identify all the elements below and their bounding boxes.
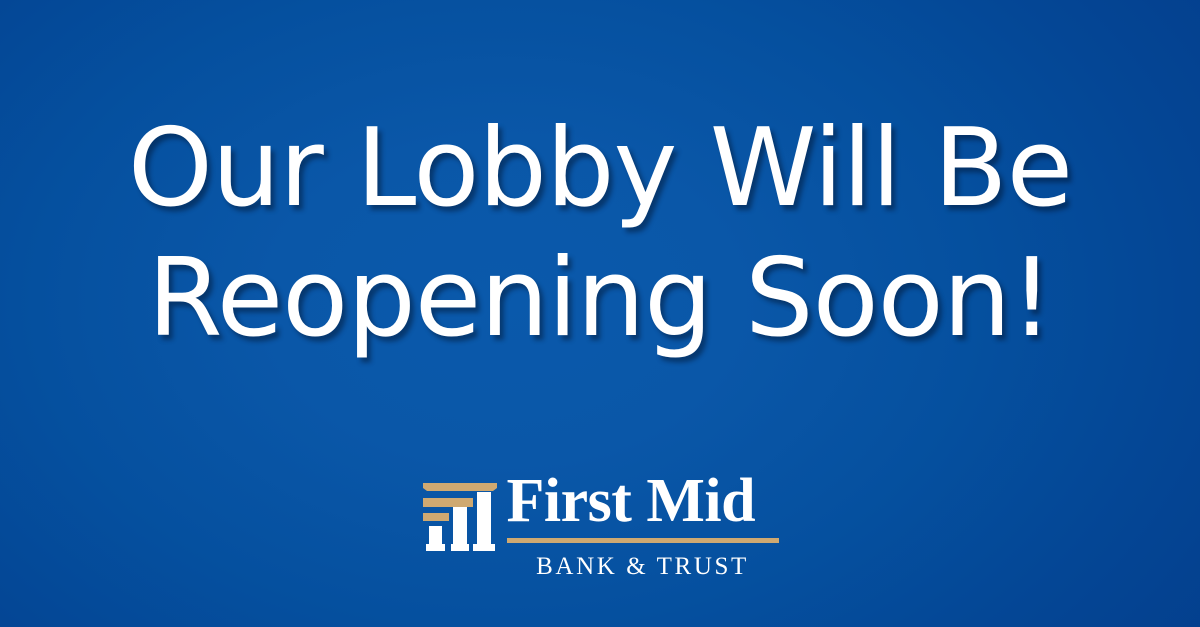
brand-logo-inner: First Mid BANK & TRUST <box>422 470 779 579</box>
headline: Our Lobby Will Be Reopening Soon! <box>0 104 1200 364</box>
headline-line-1: Our Lobby Will Be <box>0 104 1200 234</box>
brand-wordmark: First Mid BANK & TRUST <box>507 470 779 579</box>
first-mid-columns-bar-chart-mark-icon <box>422 479 498 551</box>
promo-banner: Our Lobby Will Be Reopening Soon! <box>0 0 1200 627</box>
brand-subtitle: BANK & TRUST <box>507 554 779 579</box>
brand-name: First Mid <box>507 470 779 532</box>
headline-line-2: Reopening Soon! <box>0 234 1200 364</box>
brand-divider <box>507 538 779 543</box>
brand-logo: First Mid BANK & TRUST <box>0 470 1200 579</box>
